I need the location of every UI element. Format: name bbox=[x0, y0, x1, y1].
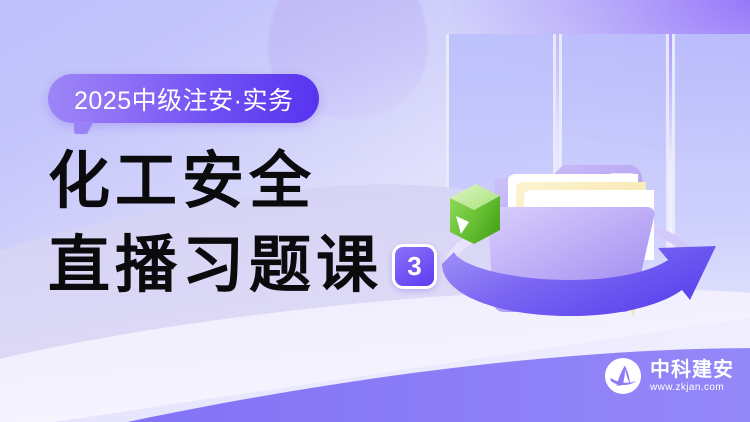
course-badge-label: 2025中级注安·实务 bbox=[74, 81, 293, 117]
folder-illustration bbox=[432, 118, 732, 338]
brand-url: www.zkjan.com bbox=[650, 383, 734, 393]
brand-name: 中科建安 bbox=[650, 360, 734, 381]
brand-mark-icon bbox=[604, 357, 642, 395]
course-badge: 2025中级注安·实务 bbox=[48, 74, 319, 123]
brand-logo: 中科建安 www.zkjan.com bbox=[604, 357, 734, 395]
episode-number: 3 bbox=[407, 253, 421, 279]
course-promo-banner: 2025中级注安·实务 化工安全 直播习题课 3 中科建安 www.zkjan.… bbox=[0, 0, 750, 422]
title-line-2-wrapper: 直播习题课 3 bbox=[48, 235, 448, 297]
title-line-1-wrapper: 化工安全 bbox=[48, 151, 448, 213]
episode-number-badge: 3 bbox=[392, 244, 437, 289]
brand-text-block: 中科建安 www.zkjan.com bbox=[650, 360, 734, 393]
headline-block: 2025中级注安·实务 化工安全 直播习题课 3 bbox=[48, 74, 448, 297]
title-line-2-text: 直播习题课 bbox=[48, 235, 383, 297]
speech-bubble-tail-icon bbox=[74, 121, 94, 134]
title-line-1-text: 化工安全 bbox=[48, 148, 316, 216]
